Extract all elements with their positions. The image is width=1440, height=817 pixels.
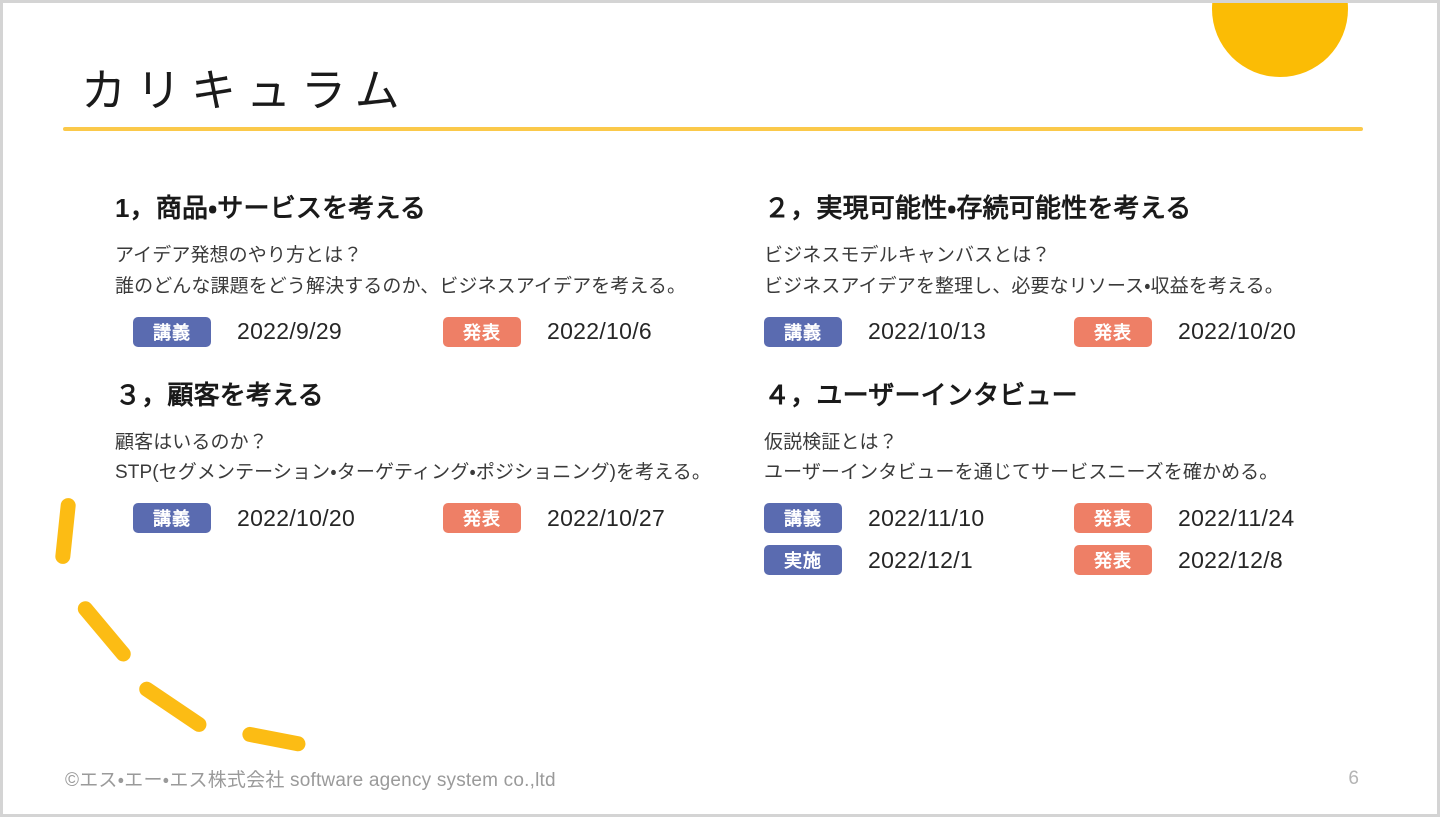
status-badge-presentation: 発表 bbox=[443, 503, 521, 533]
schedule-cell-presentation: 発表 2022/11/24 bbox=[1074, 503, 1294, 533]
schedule-cell-presentation: 発表 2022/10/27 bbox=[443, 503, 665, 533]
schedule-cell-lecture: 講義 2022/11/10 bbox=[764, 503, 1074, 533]
schedule-date-lecture: 2022/10/13 bbox=[868, 318, 986, 345]
decorative-arc-dash-4-icon bbox=[241, 726, 307, 753]
status-badge-presentation: 発表 bbox=[1074, 317, 1152, 347]
section-3-line-2: STP(セグメンテーション・ターゲティング・ポジショニング)を考える。 bbox=[115, 458, 748, 489]
section-2-line-1: ビジネスモデルキャンバスとは？ bbox=[758, 241, 1440, 272]
schedule-date-presentation: 2022/11/24 bbox=[1178, 505, 1294, 532]
schedule-cell-lecture: 講義 2022/9/29 bbox=[133, 317, 443, 347]
status-badge-lecture: 講義 bbox=[764, 503, 842, 533]
section-2-heading: ２，実現可能性・存続可能性を考える bbox=[758, 188, 1440, 225]
status-badge-presentation: 発表 bbox=[1074, 503, 1152, 533]
schedule-row: 講義 2022/10/20 発表 2022/10/27 bbox=[133, 503, 748, 533]
schedule-cell-lecture: 講義 2022/10/13 bbox=[764, 317, 1074, 347]
decorative-arc-dash-3-icon bbox=[136, 679, 209, 735]
section-3-line-1: 顧客はいるのか？ bbox=[115, 428, 748, 459]
title-underline bbox=[63, 127, 1363, 131]
schedule-date-presentation: 2022/12/8 bbox=[1178, 547, 1283, 574]
slide: カリキュラム 1，商品・サービスを考える アイデア発想のやり方とは？ 誰のどんな… bbox=[0, 0, 1440, 817]
curriculum-sections: 1，商品・サービスを考える アイデア発想のやり方とは？ 誰のどんな課題をどう解決… bbox=[3, 188, 1440, 575]
schedule-date-presentation: 2022/10/6 bbox=[547, 318, 652, 345]
status-badge-execution: 実施 bbox=[764, 545, 842, 575]
schedule-date-execution: 2022/12/1 bbox=[868, 547, 973, 574]
schedule-row: 講義 2022/11/10 発表 2022/11/24 bbox=[764, 503, 1440, 533]
schedule-date-presentation: 2022/10/20 bbox=[1178, 318, 1296, 345]
status-badge-lecture: 講義 bbox=[133, 503, 211, 533]
footer-copyright: ©エス・エー・エス株式会社 software agency system co.… bbox=[65, 765, 556, 792]
section-3-heading: ３，顧客を考える bbox=[115, 375, 748, 412]
section-2-schedule: 講義 2022/10/13 発表 2022/10/20 bbox=[758, 317, 1440, 347]
schedule-cell-presentation: 発表 2022/10/6 bbox=[443, 317, 652, 347]
schedule-date-lecture: 2022/11/10 bbox=[868, 505, 984, 532]
section-3: ３，顧客を考える 顧客はいるのか？ STP(セグメンテーション・ターゲティング・… bbox=[3, 375, 748, 576]
status-badge-presentation: 発表 bbox=[443, 317, 521, 347]
section-4: ４，ユーザーインタビュー 仮説検証とは？ ユーザーインタビューを通じてサービスニ… bbox=[748, 375, 1440, 576]
section-1-line-2: 誰のどんな課題をどう解決するのか、ビジネスアイデアを考える。 bbox=[115, 272, 748, 303]
status-badge-lecture: 講義 bbox=[764, 317, 842, 347]
section-2: ２，実現可能性・存続可能性を考える ビジネスモデルキャンバスとは？ ビジネスアイ… bbox=[748, 188, 1440, 347]
schedule-cell-execution: 実施 2022/12/1 bbox=[764, 545, 1074, 575]
section-1-heading: 1，商品・サービスを考える bbox=[115, 188, 748, 225]
schedule-date-lecture: 2022/10/20 bbox=[237, 505, 355, 532]
schedule-date-lecture: 2022/9/29 bbox=[237, 318, 342, 345]
schedule-cell-presentation: 発表 2022/12/8 bbox=[1074, 545, 1283, 575]
title-area: カリキュラム bbox=[63, 63, 1363, 131]
schedule-cell-presentation: 発表 2022/10/20 bbox=[1074, 317, 1296, 347]
decorative-arc-dash-2-icon bbox=[75, 598, 134, 664]
section-1: 1，商品・サービスを考える アイデア発想のやり方とは？ 誰のどんな課題をどう解決… bbox=[3, 188, 748, 347]
schedule-row: 講義 2022/10/13 発表 2022/10/20 bbox=[764, 317, 1440, 347]
section-4-heading: ４，ユーザーインタビュー bbox=[758, 375, 1440, 412]
schedule-date-presentation: 2022/10/27 bbox=[547, 505, 665, 532]
schedule-row: 実施 2022/12/1 発表 2022/12/8 bbox=[764, 545, 1440, 575]
section-4-schedule: 講義 2022/11/10 発表 2022/11/24 実施 2022/12/1… bbox=[758, 503, 1440, 575]
schedule-row: 講義 2022/9/29 発表 2022/10/6 bbox=[133, 317, 748, 347]
section-3-schedule: 講義 2022/10/20 発表 2022/10/27 bbox=[115, 503, 748, 533]
page-title: カリキュラム bbox=[63, 63, 1363, 127]
schedule-cell-lecture: 講義 2022/10/20 bbox=[133, 503, 443, 533]
status-badge-presentation: 発表 bbox=[1074, 545, 1152, 575]
section-1-line-1: アイデア発想のやり方とは？ bbox=[115, 241, 748, 272]
section-4-line-1: 仮説検証とは？ bbox=[758, 428, 1440, 459]
status-badge-lecture: 講義 bbox=[133, 317, 211, 347]
section-1-schedule: 講義 2022/9/29 発表 2022/10/6 bbox=[115, 317, 748, 347]
page-number: 6 bbox=[1348, 768, 1359, 790]
section-4-line-2: ユーザーインタビューを通じてサービスニーズを確かめる。 bbox=[758, 458, 1440, 489]
section-2-line-2: ビジネスアイデアを整理し、必要なリソース・収益を考える。 bbox=[758, 272, 1440, 303]
